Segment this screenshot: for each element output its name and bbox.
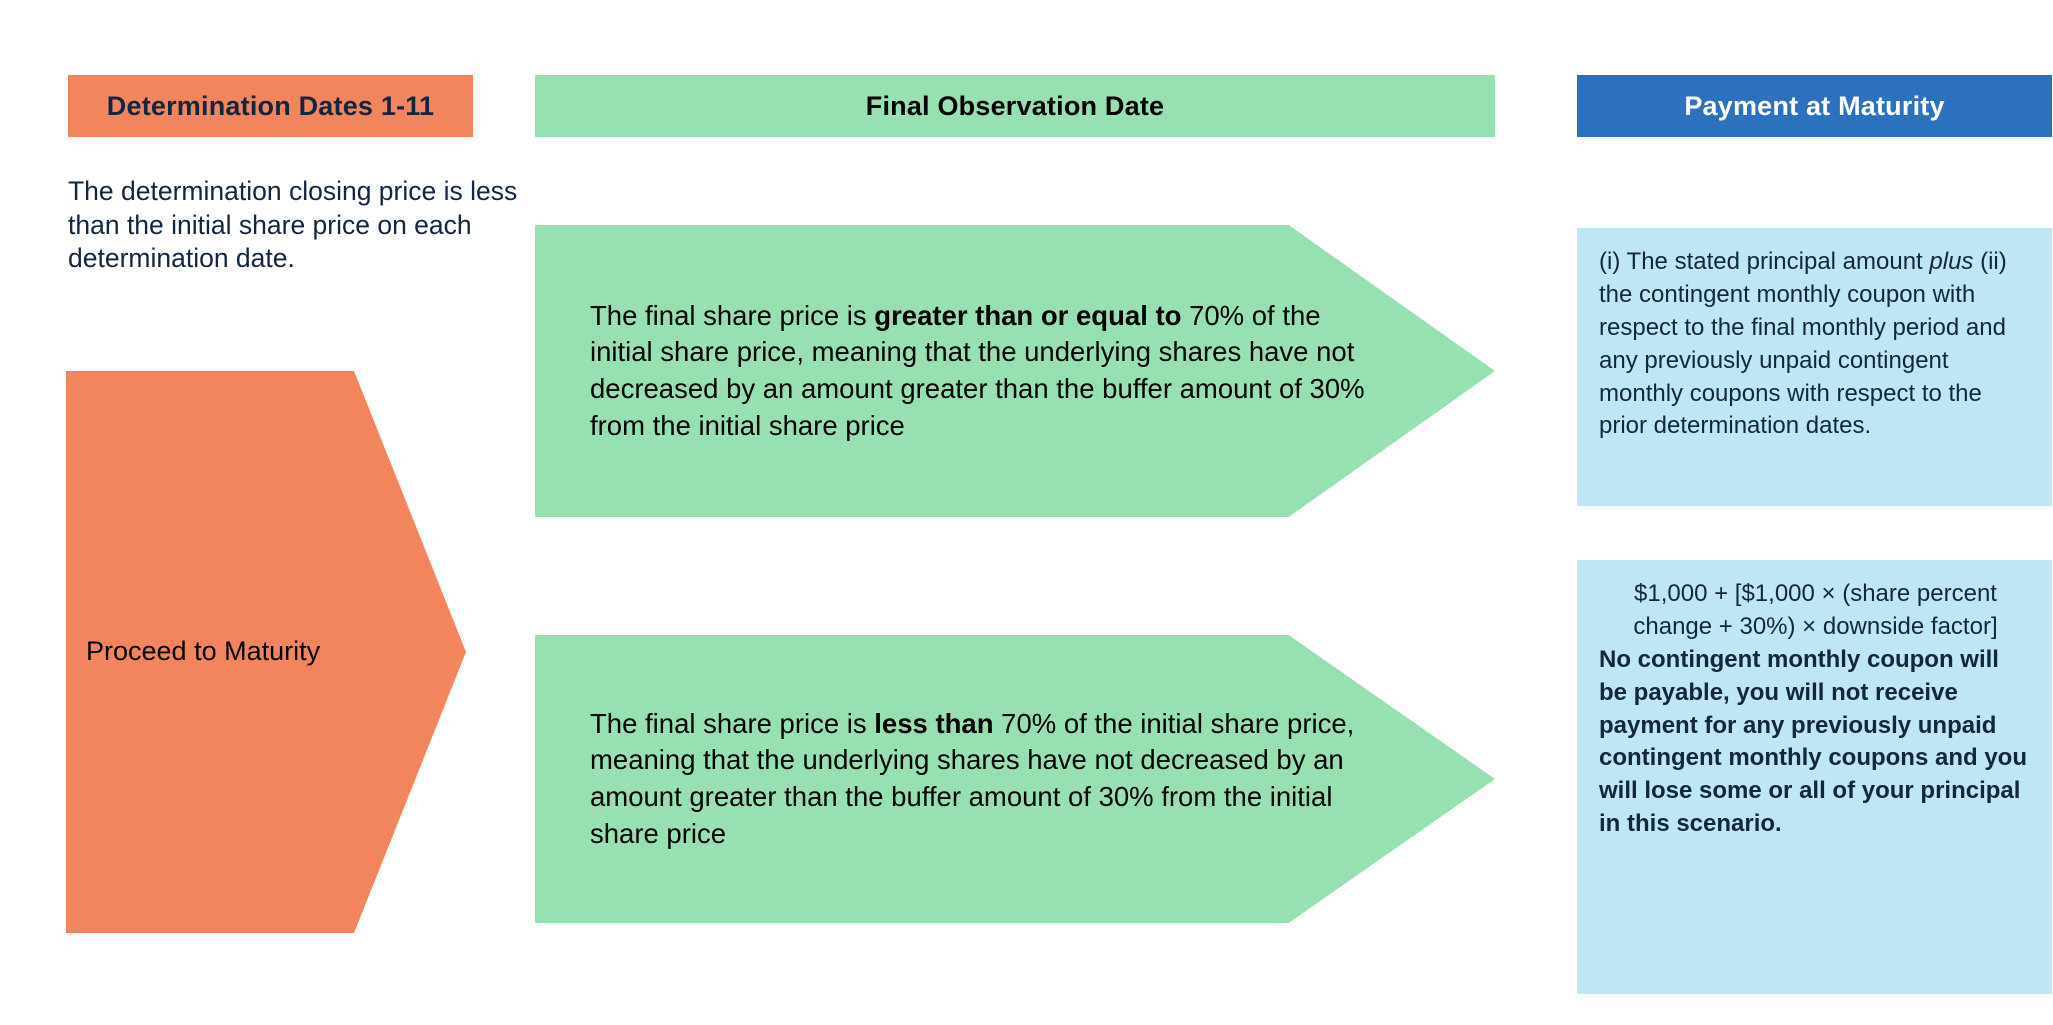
branch-above-buffer-emphasis: greater than or equal to [874,300,1181,331]
final-observation-branch-below-buffer: The final share price is less than 70% o… [535,635,1495,923]
final-observation-date-header: Final Observation Date [535,75,1495,137]
payment-outcome-principal-plus-coupon: (i) The stated principal amount plus (ii… [1577,228,2052,506]
proceed-to-maturity-label: Proceed to Maturity [86,635,320,669]
payment-outcome-1-part2: (ii) the contingent monthly coupon with … [1599,248,2007,439]
branch-below-buffer-text: The final share price is less than 70% o… [535,706,1495,852]
final-observation-branch-above-buffer: The final share price is greater than or… [535,225,1495,517]
branch-above-buffer-prefix: The final share price is [590,300,874,331]
branch-below-buffer-prefix: The final share price is [590,708,874,739]
payment-at-maturity-header: Payment at Maturity [1577,75,2052,137]
determination-dates-header: Determination Dates 1-11 [68,75,473,137]
payment-outcome-1-text: (i) The stated principal amount plus (ii… [1599,246,2032,443]
payment-outcome-2-warning: No contingent monthly coupon will be pay… [1599,644,2032,841]
payment-outcome-2-formula: $1,000 + [$1,000 × (share percent change… [1599,578,2032,644]
payment-outcome-1-italic: plus [1929,248,1973,275]
determination-dates-note: The determination closing price is less … [68,175,518,276]
branch-above-buffer-text: The final share price is greater than or… [535,298,1495,444]
proceed-to-maturity-arrow: Proceed to Maturity [66,371,466,933]
payment-outcome-1-part1: (i) The stated principal amount [1599,248,1929,275]
diagram-canvas: Determination Dates 1-11 The determinati… [0,0,2053,1025]
payment-outcome-loss-scenario: $1,000 + [$1,000 × (share percent change… [1577,560,2052,994]
branch-below-buffer-emphasis: less than [874,708,993,739]
